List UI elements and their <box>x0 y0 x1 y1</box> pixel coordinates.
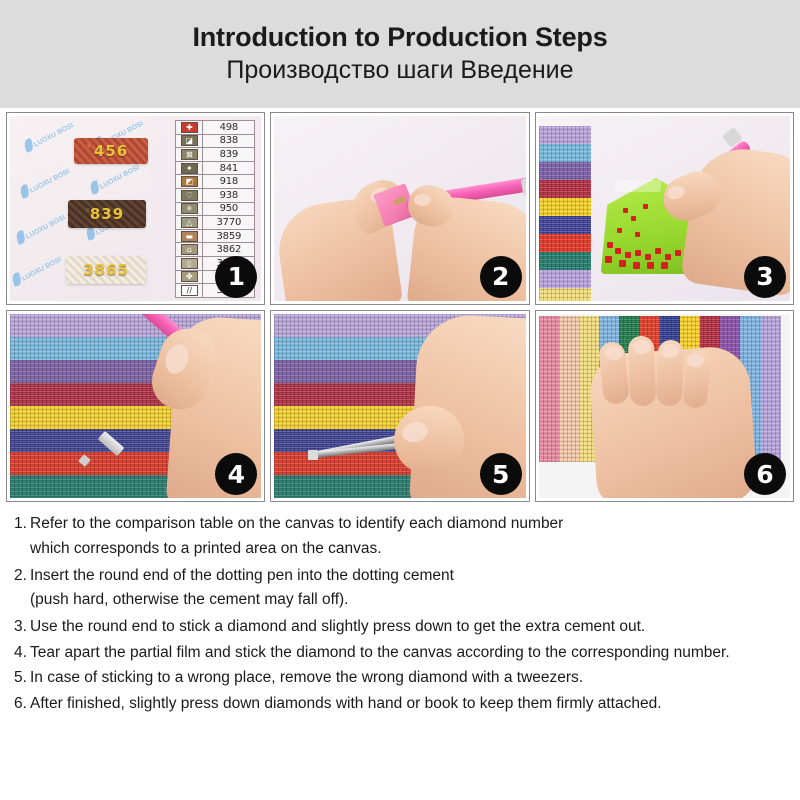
page-title-russian: Производство шаги Введение <box>226 56 573 85</box>
dmc-number: 839 <box>203 148 255 162</box>
instruction-item: 5. In case of sticking to a wrong place,… <box>14 670 786 686</box>
table-row: △ 3770 <box>176 216 255 230</box>
instruction-number: 6. <box>14 696 30 712</box>
diamond-bead <box>308 450 318 460</box>
instruction-text: Insert the round end of the dotting pen … <box>30 568 786 584</box>
instruction-number: 1. <box>14 516 30 532</box>
symbol-swatch-icon: ◪ <box>181 135 198 146</box>
fingernail-icon <box>633 340 651 354</box>
symbol-swatch-icon: ◩ <box>181 176 198 187</box>
instruction-number: 2. <box>14 568 30 584</box>
table-row: ◪ 838 <box>176 134 255 148</box>
instruction-text: Tear apart the partial film and stick th… <box>30 645 786 661</box>
dmc-number: 3859 <box>203 229 255 243</box>
symbol-swatch-icon: ♡ <box>181 190 198 201</box>
dmc-number: 3862 <box>203 243 255 257</box>
step-badge-1: 1 <box>215 256 257 298</box>
step-panel-2: 2 <box>270 112 529 305</box>
symbol-swatch-icon: △ <box>181 217 198 228</box>
symbol-swatch-icon: // <box>181 285 198 296</box>
table-row: ⌂ 3862 <box>176 243 255 257</box>
table-row: ✳ 950 <box>176 202 255 216</box>
instruction-item: 4. Tear apart the partial film and stick… <box>14 645 786 661</box>
step-panel-5: 5 <box>270 310 529 503</box>
instruction-item: 2. Insert the round end of the dotting p… <box>14 568 786 584</box>
instructions-list: 1. Refer to the comparison table on the … <box>0 508 800 800</box>
instruction-number: 3. <box>14 619 30 635</box>
instruction-number: 5. <box>14 670 30 686</box>
dmc-number: 498 <box>203 121 255 135</box>
table-row: ◩ 918 <box>176 175 255 189</box>
dmc-number: 841 <box>203 161 255 175</box>
step-panel-3: 3 <box>535 112 794 305</box>
step-badge-6: 6 <box>744 453 786 495</box>
step-panel-grid: LUOXU BOSI LUOXU BOSI LUOXU BOSI LUOXU B… <box>6 112 794 502</box>
film-logo-icon: LUOXU BOSI <box>21 256 63 283</box>
table-row: ♡ 938 <box>176 188 255 202</box>
dmc-number: 950 <box>203 202 255 216</box>
fingernail-icon <box>661 344 679 358</box>
symbol-swatch-icon: ✚ <box>181 122 198 133</box>
instruction-item: 3. Use the round end to stick a diamond … <box>14 619 786 635</box>
film-logo-icon: LUOXU BOSI <box>99 164 141 191</box>
dmc-number: 838 <box>203 134 255 148</box>
bag-number: 456 <box>74 142 148 160</box>
dmc-number: 3770 <box>203 216 255 230</box>
dmc-number: 918 <box>203 175 255 189</box>
table-row: ⊠ 839 <box>176 148 255 162</box>
instruction-item: 1. Refer to the comparison table on the … <box>14 516 786 532</box>
diamond-bag: 3865 <box>66 256 146 284</box>
instruction-text: Refer to the comparison table on the can… <box>30 516 786 532</box>
symbol-swatch-icon: ✦ <box>181 163 198 174</box>
bag-number: 3865 <box>66 261 146 279</box>
symbol-swatch-icon: ⊠ <box>181 149 198 160</box>
diamond-bag: 456 <box>74 138 148 164</box>
step-badge-2: 2 <box>480 256 522 298</box>
dmc-number: 938 <box>203 188 255 202</box>
table-row: ✦ 841 <box>176 161 255 175</box>
instruction-continuation: which corresponds to a printed area on t… <box>14 540 786 558</box>
film-logo-icon: LUOXU BOSI <box>33 122 75 149</box>
instruction-text: After finished, slightly press down diam… <box>30 696 786 712</box>
symbol-swatch-icon: ⌂ <box>181 244 198 255</box>
step-badge-3: 3 <box>744 256 786 298</box>
bag-number: 839 <box>68 205 146 223</box>
fingernail-icon <box>605 346 623 360</box>
instruction-text: Use the round end to stick a diamond and… <box>30 619 786 635</box>
step-panel-6: 6 <box>535 310 794 503</box>
page-title-english: Introduction to Production Steps <box>192 23 607 53</box>
table-row: ▬ 3859 <box>176 229 255 243</box>
tray-lip <box>615 180 661 192</box>
step-panel-4: 4 <box>6 310 265 503</box>
fingernail-icon <box>687 354 704 367</box>
table-row: ✚ 498 <box>176 121 255 135</box>
instruction-number: 4. <box>14 645 30 661</box>
step-badge-5: 5 <box>480 453 522 495</box>
striped-canvas <box>539 126 591 301</box>
step-panel-1: LUOXU BOSI LUOXU BOSI LUOXU BOSI LUOXU B… <box>6 112 265 305</box>
symbol-swatch-icon: ✤ <box>181 271 198 282</box>
film-logo-icon: LUOXU BOSI <box>25 214 67 241</box>
header-banner: Introduction to Production Steps Произво… <box>0 0 800 108</box>
symbol-swatch-icon: ▯ <box>181 258 198 269</box>
instruction-item: 6. After finished, slightly press down d… <box>14 696 786 712</box>
production-steps-infographic: Introduction to Production Steps Произво… <box>0 0 800 800</box>
symbol-swatch-icon: ▬ <box>181 231 198 242</box>
film-logo-icon: LUOXU BOSI <box>29 168 71 195</box>
symbol-swatch-icon: ✳ <box>181 203 198 214</box>
instruction-text: In case of sticking to a wrong place, re… <box>30 670 786 686</box>
instruction-continuation: (push hard, otherwise the cement may fal… <box>14 591 786 609</box>
diamond-bag: 839 <box>68 200 146 228</box>
